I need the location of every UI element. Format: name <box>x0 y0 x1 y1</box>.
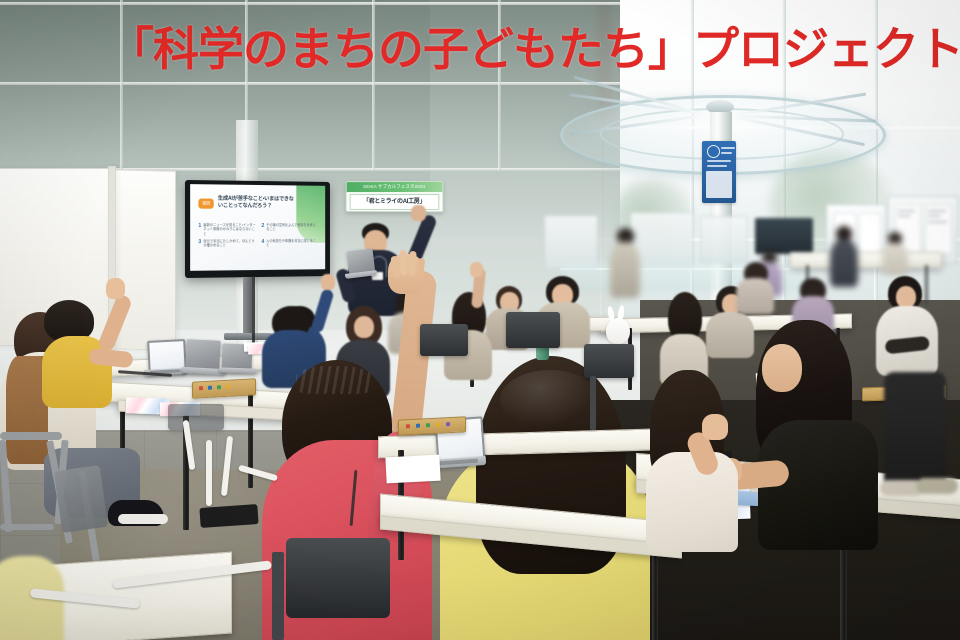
presentation-display: 質問 生成AIが苦手なこと・いまはできないことってなんだろう？ 1 最新のニュー… <box>185 180 330 278</box>
chair-back <box>584 344 634 378</box>
banner-workshop-title: 「君とミライのAI工房」 <box>350 194 440 210</box>
slide-item-number: 3 <box>198 239 201 248</box>
chair-back <box>168 404 224 430</box>
slide-item-number: 4 <box>261 239 264 248</box>
slide-heading: 生成AIが苦手なこと・いまはできないことってなんだろう？ <box>218 196 295 211</box>
poster-text-line <box>898 210 915 212</box>
slide-item: 1 最新のニュースを知ること・インターネット検索のかわりにはならないこと <box>198 223 256 236</box>
slide-item-text: 自分で本当にたしかめて、ほんとうか確かめること <box>203 239 256 248</box>
slide-item-number: 1 <box>198 223 201 236</box>
shoe <box>916 478 958 494</box>
display-stand <box>243 277 252 335</box>
slide-item-text: 最新のニュースを知ること・インターネット検索のかわりにはならないこと <box>203 223 256 236</box>
raised-hand <box>106 278 125 299</box>
page-title: 「科学のまちの子どもたち」プロジェクト <box>108 20 868 78</box>
chair-post <box>272 552 284 640</box>
exhibit-cabinet <box>544 215 598 269</box>
chair-seat <box>54 465 108 533</box>
white-rabbit-plush <box>606 318 630 344</box>
light-top <box>646 452 738 552</box>
wall-rail <box>0 82 620 85</box>
table-leg <box>925 265 928 305</box>
raised-hand <box>321 274 335 290</box>
presenter-hand <box>411 205 426 221</box>
chair-back <box>286 538 390 618</box>
slide-item-grid: 1 最新のニュースを知ること・インターネット検索のかわりにはならないこと 2 そ… <box>198 223 317 248</box>
slide-item-text: 人の気持ちや体験を本当に感じること <box>266 239 317 248</box>
background-monitor <box>755 218 813 254</box>
slide-badge: 質問 <box>198 198 213 208</box>
info-icon <box>707 145 720 158</box>
participant-laptop <box>185 339 221 371</box>
slide-item: 3 自分で本当にたしかめて、ほんとうか確かめること <box>198 239 256 248</box>
poster-text-line <box>928 210 946 212</box>
hand <box>702 414 728 440</box>
shoe-sole <box>118 514 168 524</box>
poster-sheet <box>925 204 952 254</box>
sign-text-line <box>721 147 735 149</box>
sign-text-line <box>707 165 727 167</box>
sign-text-line <box>707 160 731 162</box>
display-foot <box>224 333 272 340</box>
chair-foot-rail <box>0 524 54 530</box>
display-cable <box>252 276 255 344</box>
sign-text-line <box>721 152 732 154</box>
information-sign <box>702 141 736 203</box>
display-screen: 質問 生成AIが苦手なこと・いまはできないことってなんだろう？ 1 最新のニュー… <box>190 184 325 271</box>
slide-item: 4 人の気持ちや体験を本当に感じること <box>261 239 317 248</box>
slide-badge-label: 質問 <box>198 198 213 208</box>
poster-sheet <box>859 213 881 255</box>
slide-item: 2 その場の空気をよんで気持ちを考えること <box>261 223 317 236</box>
poster-text-line <box>898 215 911 217</box>
chair-back <box>420 324 468 356</box>
braid-texture <box>296 366 372 394</box>
head <box>762 344 802 392</box>
background-table <box>790 252 942 268</box>
paper-sheet <box>385 455 440 484</box>
raised-hand <box>470 262 483 277</box>
wooden-tray-with-blocks <box>192 378 256 398</box>
exhibit-cabinet <box>700 216 748 264</box>
finger <box>399 250 407 276</box>
chair-back <box>506 312 560 348</box>
banner-event-line: SEIKA サブカルフェスタ2024 <box>347 182 443 192</box>
legs <box>884 372 946 488</box>
chair-seat-frame <box>0 432 62 440</box>
power-cable <box>206 440 212 506</box>
poster-text-line <box>928 221 947 223</box>
photo-canvas: 質問 生成AIが苦手なこと・いまはできないことってなんだろう？ 1 最新のニュー… <box>0 0 960 640</box>
floor-power-strip <box>199 504 258 528</box>
poster-text-line <box>928 215 940 217</box>
sign-panel <box>706 171 732 198</box>
hair-highlight <box>500 370 600 430</box>
slide-item-text: その場の空気をよんで気持ちを考えること <box>266 223 317 236</box>
workshop-banner: SEIKA サブカルフェスタ2024 「君とミライのAI工房」 <box>346 181 444 212</box>
chair-leg <box>590 376 596 430</box>
slide-item-number: 2 <box>261 223 264 236</box>
wall-rail <box>0 2 620 5</box>
